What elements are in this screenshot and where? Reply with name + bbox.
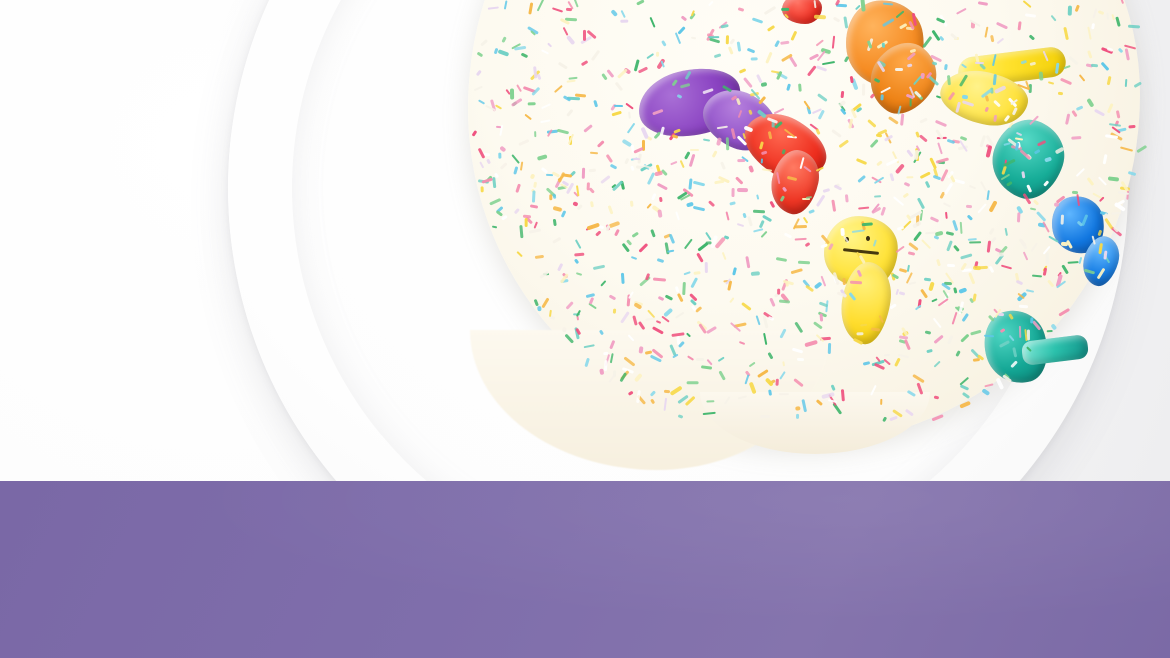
slide-canvas: LEADERSHIP &VALUES IN ACTION Moving Beyo… xyxy=(0,0,1170,658)
hero-photo xyxy=(0,0,1170,482)
gummy-bear-eye-right xyxy=(866,236,870,241)
gummy-bear-eye-left xyxy=(845,237,849,242)
footer-band: LEADERSHIP &VALUES IN ACTION Moving Beyo… xyxy=(0,481,1170,658)
